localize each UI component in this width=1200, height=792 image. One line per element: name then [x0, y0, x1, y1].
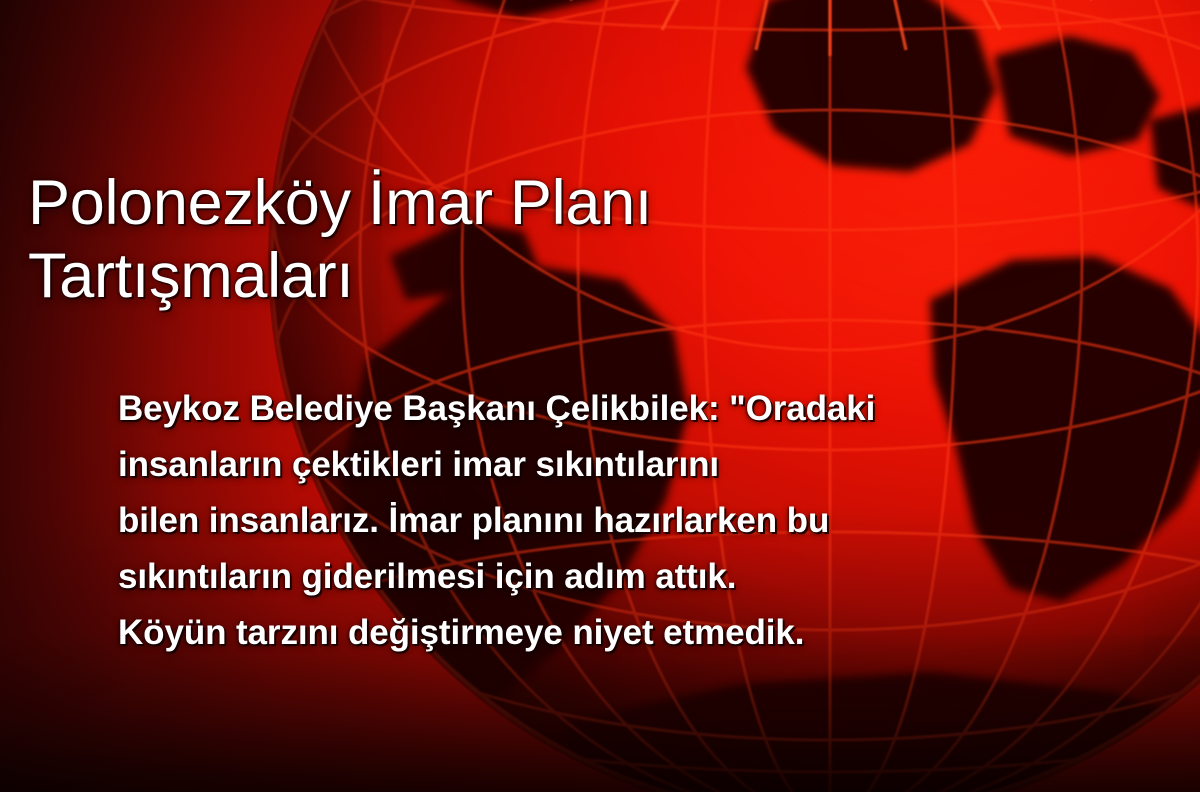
quote-line-1: Beykoz Belediye Başkanı Çelikbilek: "Ora… [118, 381, 1178, 437]
quote-line-2: insanların çektikleri imar sıkıntılarını [118, 437, 1178, 493]
quote-line-4: sıkıntıların giderilmesi için adım attık… [118, 549, 1178, 605]
quote-block: Beykoz Belediye Başkanı Çelikbilek: "Ora… [118, 381, 1178, 661]
quote-line-3: bilen insanlarız. İmar planını hazırlark… [118, 493, 1178, 549]
headline-title: Polonezköy İmar Planı Tartışmaları [28, 167, 968, 313]
news-graphic-canvas: Polonezköy İmar Planı Tartışmaları Beyko… [0, 0, 1200, 792]
quote-line-5: Köyün tarzını değiştirmeye niyet etmedik… [118, 605, 1178, 661]
